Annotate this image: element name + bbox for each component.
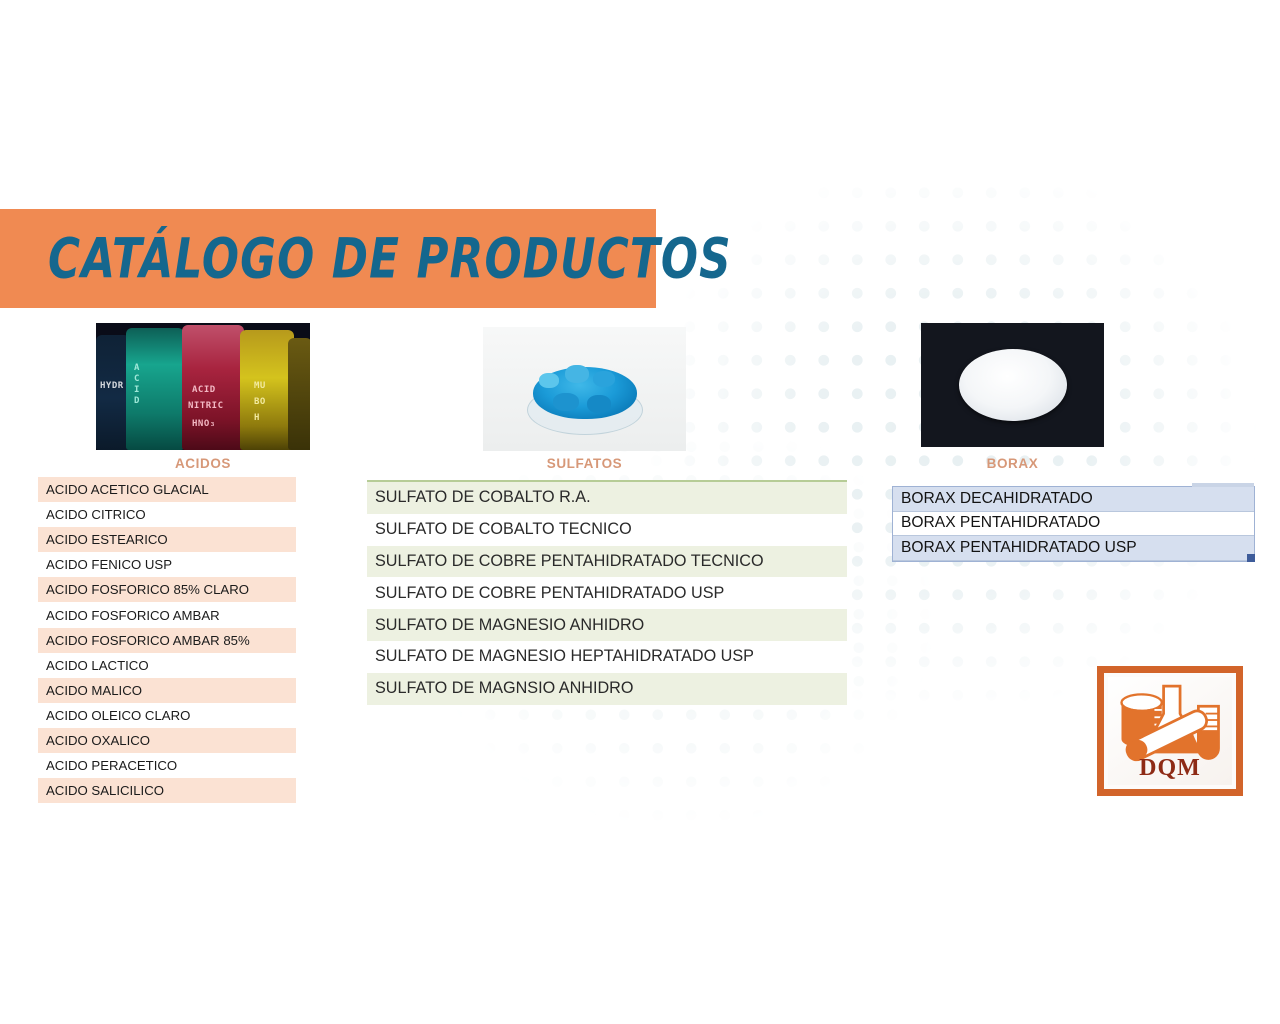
bottle-label-acid: ACID — [192, 385, 216, 396]
table-row[interactable]: BORAX DECAHIDRATADO — [893, 487, 1254, 512]
borax-table[interactable]: BORAX DECAHIDRATADO BORAX PENTAHIDRATADO… — [892, 486, 1255, 562]
page-title: CATÁLOGO DE PRODUCTOS — [48, 226, 732, 291]
bottle-label-hydr: HYDR — [100, 381, 124, 392]
bottle-label-hno3: HNO₃ — [192, 419, 216, 430]
table-row[interactable]: SULFATO DE COBRE PENTAHIDRATADO TECNICO — [367, 546, 847, 578]
dqm-logo-artwork: DQM — [1108, 677, 1232, 785]
title-banner: CATÁLOGO DE PRODUCTOS — [0, 209, 656, 308]
table-row[interactable]: ACIDO LACTICO — [38, 653, 296, 678]
catalog-slide: CATÁLOGO DE PRODUCTOS HYDR ACID ACID NIT… — [0, 0, 1280, 1024]
table-row[interactable]: ACIDO FOSFORICO AMBAR — [38, 602, 296, 627]
bottle-label-h: H — [254, 413, 260, 424]
bottle-shape — [288, 338, 310, 450]
table-row[interactable]: ACIDO FOSFORICO 85% CLARO — [38, 577, 296, 602]
table-row[interactable]: SULFATO DE MAGNESIO HEPTAHIDRATADO USP — [367, 641, 847, 673]
category-label-borax: BORAX — [921, 456, 1104, 471]
bottle-label-teal: ACID — [134, 363, 140, 407]
crystal-lump — [539, 373, 559, 388]
crystal-lump — [553, 393, 579, 411]
crystal-lump — [565, 365, 589, 383]
table-row[interactable]: ACIDO FENICO USP — [38, 552, 296, 577]
acid-bottles-photo: HYDR ACID ACID NITRIC HNO₃ MU BO H — [96, 323, 310, 450]
category-label-acidos: ACIDOS — [96, 456, 310, 471]
acidos-table: ACIDO ACETICO GLACIAL ACIDO CITRICO ACID… — [38, 477, 296, 803]
powder-dish-shape — [959, 349, 1067, 421]
bottle-label-mu: MU — [254, 381, 266, 392]
table-row[interactable]: ACIDO MALICO — [38, 678, 296, 703]
table-row[interactable]: SULFATO DE MAGNSIO ANHIDRO — [367, 673, 847, 705]
table-row[interactable]: BORAX PENTAHIDRATADO USP — [893, 536, 1254, 561]
table-row[interactable]: ACIDO OLEICO CLARO — [38, 703, 296, 728]
table-row[interactable]: ACIDO OXALICO — [38, 728, 296, 753]
category-label-sulfatos: SULFATOS — [483, 456, 686, 471]
table-row[interactable]: SULFATO DE COBRE PENTAHIDRATADO USP — [367, 577, 847, 609]
table-row[interactable]: SULFATO DE COBALTO R.A. — [367, 482, 847, 514]
table-top-tab — [1192, 483, 1254, 487]
table-row[interactable]: ACIDO FOSFORICO AMBAR 85% — [38, 628, 296, 653]
table-row[interactable]: SULFATO DE MAGNESIO ANHIDRO — [367, 609, 847, 641]
table-row[interactable]: ACIDO ACETICO GLACIAL — [38, 477, 296, 502]
crystal-lump — [593, 371, 615, 387]
borax-powder-photo — [921, 323, 1104, 447]
table-row[interactable]: ACIDO ESTEARICO — [38, 527, 296, 552]
bottle-shape — [96, 335, 130, 450]
dqm-logo: DQM — [1097, 666, 1243, 796]
table-row[interactable]: BORAX PENTAHIDRATADO — [893, 512, 1254, 537]
bottle-label-nitric: NITRIC — [188, 401, 224, 412]
table-row[interactable]: ACIDO SALICILICO — [38, 778, 296, 803]
table-row[interactable]: ACIDO CITRICO — [38, 502, 296, 527]
bottle-shape — [240, 330, 294, 450]
crystal-lump — [587, 395, 611, 413]
table-row[interactable]: ACIDO PERACETICO — [38, 753, 296, 778]
bottle-label-bo: BO — [254, 397, 266, 408]
resize-handle[interactable] — [1247, 554, 1255, 562]
table-row[interactable]: SULFATO DE COBALTO TECNICO — [367, 514, 847, 546]
copper-sulfate-crystals-photo — [483, 327, 686, 451]
sulfatos-table: SULFATO DE COBALTO R.A. SULFATO DE COBAL… — [367, 480, 847, 705]
dqm-logo-text: DQM — [1108, 755, 1232, 782]
